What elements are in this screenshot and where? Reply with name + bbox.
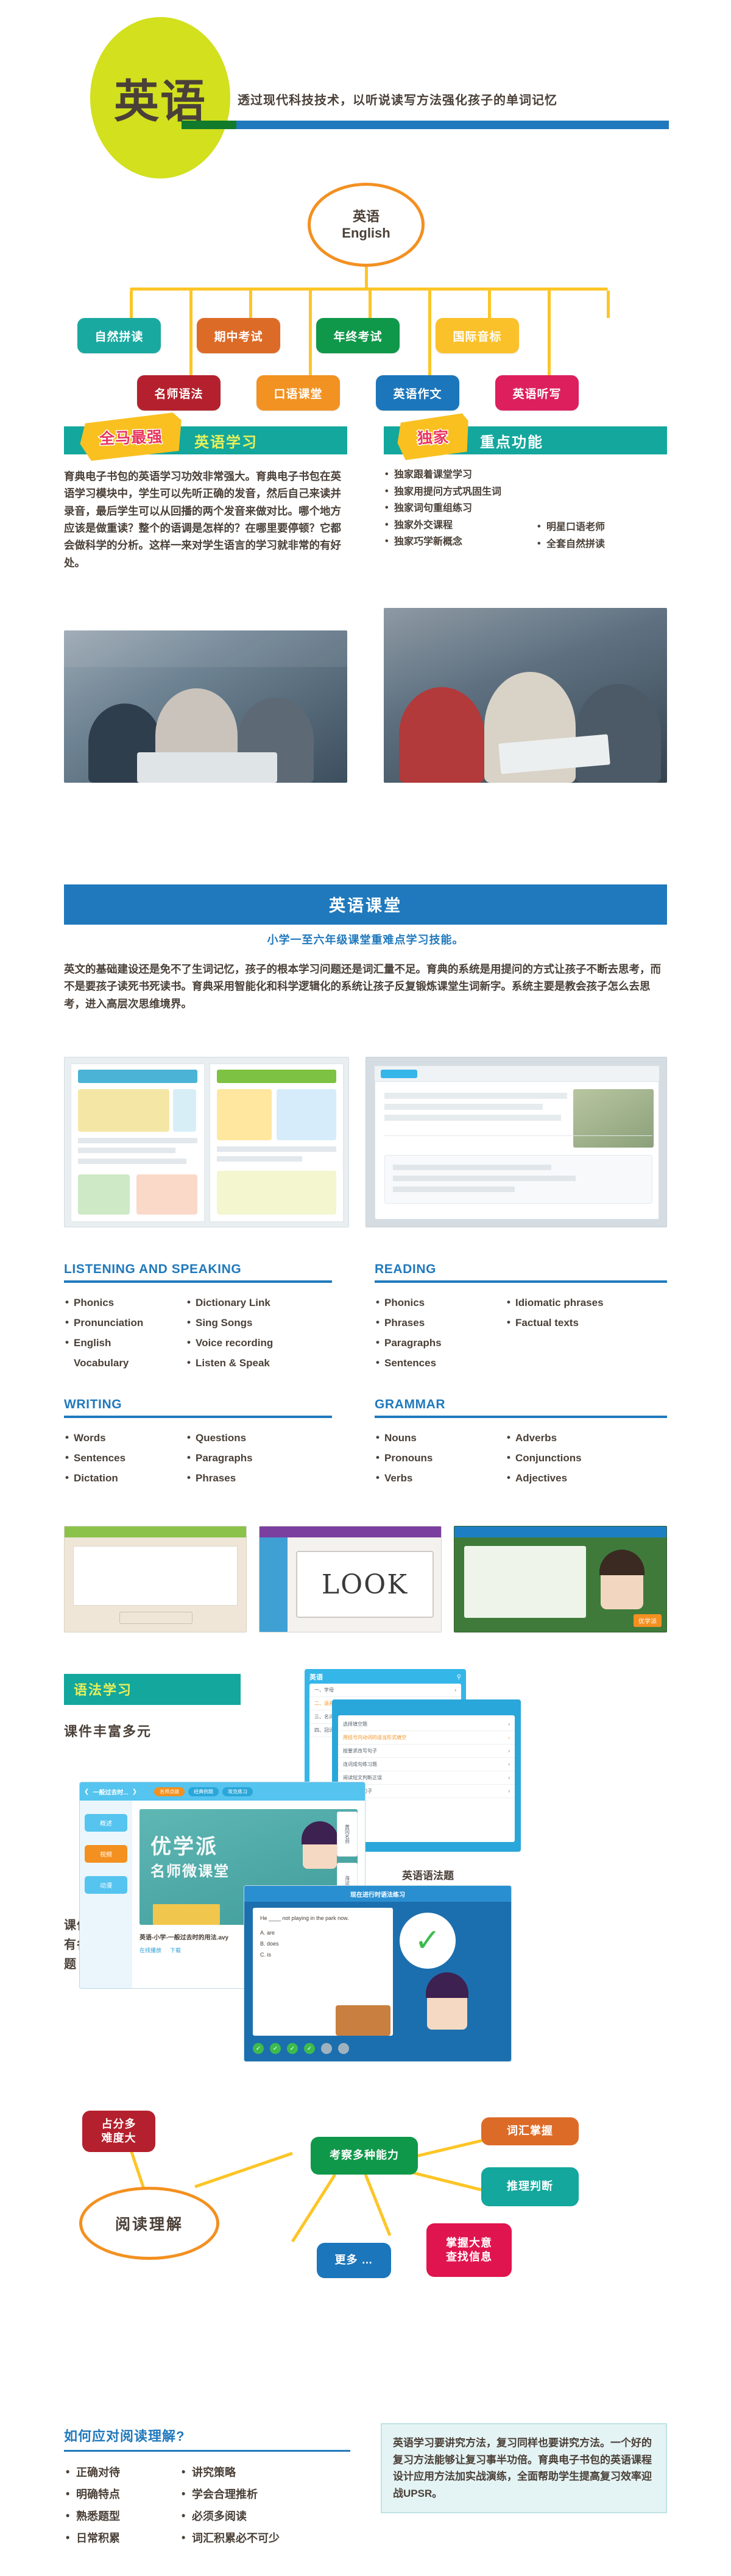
list-item-label: 用括号内动词的适当形式填空 [343, 1734, 406, 1741]
photo-students-reading [384, 608, 667, 783]
chevron-right-icon: › [508, 1775, 510, 1780]
player-side-tab-2[interactable]: 视频 [85, 1845, 127, 1863]
skill-list-col2: Questions Paragraphs Phrases [186, 1428, 320, 1488]
list-item: Phrases [186, 1468, 320, 1488]
list-item: 全套自然拼读 [536, 536, 658, 553]
list-item[interactable]: 按要求改写句子› [338, 1745, 515, 1758]
player-side-tab-3[interactable]: 动漫 [85, 1876, 127, 1894]
list-item: 独家用提问方式巩固生词 [384, 484, 536, 501]
skill-heading: READING [375, 1262, 667, 1277]
list-item-label: 连词成句练习题 [343, 1761, 377, 1768]
skill-list-col1: Phonics Pronunciation English Vocabulary [64, 1293, 186, 1374]
subject-tree-diagram: 英语 English 自然拼读 期中考试 年终考试 国际音标 名师语法 口语课堂… [0, 183, 731, 378]
list-item: Factual texts [506, 1313, 652, 1333]
photo-students-tablets [64, 630, 347, 783]
left-panel-flag: 全马最强 [79, 412, 183, 462]
list-item: 独家词句重组练习 [384, 500, 536, 517]
left-panel-title: 英语学习 [194, 430, 258, 451]
skill-list-col1: Words Sentences Dictation [64, 1428, 186, 1488]
menu-item[interactable]: 一、字母 › [309, 1684, 461, 1697]
menu-item-label: 一、字母 [314, 1687, 334, 1693]
list-item: Idiomatic phrases [506, 1293, 652, 1313]
list-item: Listen & Speak [186, 1353, 320, 1373]
player-tab-1[interactable]: 名师点拨 [154, 1787, 185, 1796]
list-item: 词汇积累必不可少 [180, 2527, 344, 2549]
left-panel-paragraph: 育典电子书包的英语学习功效非常强大。育典电子书包在英语学习模块中，学生可以先听正… [64, 468, 347, 571]
chevron-left-icon[interactable]: ❮ [84, 1788, 89, 1795]
classroom-title-bar: 英语课堂 [64, 884, 667, 925]
tree-drop-7 [428, 291, 431, 375]
final-list-col1: 正确对待 明确特点 熟悉题型 日常积累 [64, 2461, 180, 2549]
player-slide-title-2: 名师微课堂 [150, 1859, 230, 1880]
list-item: Dictation [64, 1468, 186, 1488]
download-action[interactable]: 下载 [170, 1946, 181, 1954]
filmstrip-item-teacher-video: 优学派 [454, 1526, 667, 1632]
list-item: 独家巧学新概念 [384, 534, 536, 551]
right-panel-flag-text: 独家 [417, 425, 449, 448]
chevron-right-icon: › [508, 1788, 510, 1794]
tree-drop-2 [249, 291, 252, 318]
list-item: Phonics [375, 1293, 506, 1313]
skill-block-grammar: GRAMMAR Nouns Pronouns Verbs Adverbs Con… [375, 1397, 667, 1488]
list-item-label: 选择填空题 [343, 1721, 367, 1727]
list-item: Adjectives [506, 1468, 652, 1488]
tree-root-en: English [342, 225, 390, 242]
list-item[interactable]: 用括号内动词的适当形式填空› [338, 1731, 515, 1745]
list-item: Paragraphs [375, 1333, 506, 1353]
filmstrip-badge: 优学派 [634, 1614, 662, 1627]
flow-node-difficulty[interactable]: 占分多 难度大 [82, 2111, 155, 2152]
list-item: Dictionary Link [186, 1293, 320, 1313]
tree-drop-9 [607, 291, 610, 318]
check-icon: ✓ [253, 2043, 264, 2054]
list-item: Sing Songs [186, 1313, 320, 1333]
page-header: 英语 透过现代科技技术，以听说读写方法强化孩子的单词记忆 [0, 0, 731, 183]
quiz-option-c[interactable]: C. is [260, 1949, 386, 1960]
player-slide-title-1: 优学派 [150, 1830, 218, 1860]
classroom-paragraph: 英文的基础建设还是免不了生词记忆，孩子的根本学习问题还是词汇量不足。育典的系统是… [64, 961, 667, 1012]
rule-green-segment [182, 121, 236, 129]
quiz-option-a[interactable]: A. are [260, 1927, 386, 1938]
search-icon[interactable]: ⚲ [457, 1674, 461, 1681]
skill-list-col2: Idiomatic phrases Factual texts [506, 1293, 652, 1374]
list-item: 明确特点 [64, 2483, 180, 2505]
reading-flow-chart: 占分多 难度大 词汇掌握 推理判断 掌握大意 查找信息 更多 … 考察多种能力 … [0, 2089, 731, 2321]
chevron-right-icon: › [508, 1721, 510, 1727]
list-item: Pronouns [375, 1448, 506, 1468]
chevron-right-icon[interactable]: ❯ [132, 1788, 137, 1795]
check-icon: ✓ [304, 2043, 315, 2054]
screenshot-listening-app [365, 1057, 667, 1227]
rule-blue-segment [236, 121, 669, 129]
list-item: 必须多阅读 [180, 2505, 344, 2527]
chevron-right-icon: › [454, 1687, 456, 1693]
list-item: Sentences [64, 1448, 186, 1468]
menu-item-label: 四、冠词 [314, 1727, 334, 1734]
tree-node-dictation[interactable]: 英语听写 [495, 375, 579, 411]
list-item: 日常积累 [64, 2527, 180, 2549]
list-item: English [64, 1333, 186, 1353]
tree-node-phonics[interactable]: 自然拼读 [77, 318, 161, 353]
skill-block-reading: READING Phonics Phrases Paragraphs Sente… [375, 1262, 667, 1374]
skill-list-col2: Dictionary Link Sing Songs Voice recordi… [186, 1293, 320, 1374]
list-item: Words [64, 1428, 186, 1448]
classroom-subtitle: 小学一至六年级课堂重难点学习技能。 [64, 931, 667, 947]
player-tab-3[interactable]: 攻克练习 [222, 1787, 253, 1796]
check-icon: ✓ [414, 1925, 441, 1957]
list-item: 独家跟着课堂学习 [384, 467, 536, 484]
skill-block-listening: LISTENING AND SPEAKING Phonics Pronuncia… [64, 1262, 332, 1374]
right-panel-features-col2: 明星口语老师 全套自然拼读 [536, 467, 658, 552]
player-badge-1[interactable]: 黄冈名师 [337, 1812, 358, 1857]
list-item: Questions [186, 1428, 320, 1448]
skill-heading: GRAMMAR [375, 1397, 667, 1412]
flow-node-inference[interactable]: 推理判断 [481, 2167, 579, 2206]
tree-node-grammar[interactable]: 名师语法 [137, 375, 221, 411]
flow-node-more[interactable]: 更多 … [317, 2243, 391, 2278]
grammar-quiz-app: 现在进行时语法练习 He ____ not playing in the par… [244, 1885, 512, 2062]
list-item[interactable]: 选择填空题› [338, 1718, 515, 1731]
tree-root-node: 英语 English [308, 183, 425, 267]
play-online-action[interactable]: 在线播放 [139, 1946, 161, 1954]
grammar-right-caption: 英语语法题 [402, 1867, 454, 1882]
tree-drop-1 [130, 291, 133, 318]
skill-list-col1: Nouns Pronouns Verbs [375, 1428, 506, 1488]
tree-drop-4 [488, 291, 491, 318]
flow-node-hub[interactable]: 考察多种能力 [311, 2137, 418, 2175]
grammar-lead-text: 课件丰富多元 [64, 1721, 152, 1740]
filmstrip-item-whiteboard [64, 1526, 247, 1632]
list-item: 熟悉题型 [64, 2505, 180, 2527]
tree-drop-6 [309, 291, 312, 375]
skill-block-writing: WRITING Words Sentences Dictation Questi… [64, 1397, 332, 1488]
flow-node-main-idea[interactable]: 掌握大意 查找信息 [426, 2223, 512, 2277]
player-side-tab-1[interactable]: 概述 [85, 1814, 127, 1832]
player-breadcrumb: 一般过去时... [93, 1787, 128, 1796]
final-list-col2: 讲究策略 学会合理推析 必须多阅读 词汇积累必不可少 [180, 2461, 344, 2549]
menu-item-label: 三、名词 [314, 1713, 334, 1720]
list-item: Vocabulary [64, 1353, 186, 1373]
list-item: Nouns [375, 1428, 506, 1448]
tree-node-final-exam[interactable]: 年终考试 [316, 318, 400, 353]
list-item: Phonics [64, 1293, 186, 1313]
right-feature-panel: 独家 重点功能 独家跟着课堂学习 独家用提问方式巩固生词 独家词句重组练习 独家… [384, 426, 667, 552]
tree-node-midterm[interactable]: 期中考试 [197, 318, 280, 353]
tree-node-ipa[interactable]: 国际音标 [436, 318, 519, 353]
header-rule [182, 121, 669, 129]
list-item: Sentences [375, 1353, 506, 1373]
list-item: 正确对待 [64, 2461, 180, 2483]
filmstrip-caption: LOOK [322, 1569, 408, 1600]
list-item-label: 按要求改写句子 [343, 1748, 377, 1754]
quiz-option-b[interactable]: B. does [260, 1938, 386, 1949]
list-item: Voice recording [186, 1333, 320, 1353]
final-rule [64, 2450, 350, 2452]
right-panel-flag: 独家 [396, 413, 470, 461]
quiz-title: 现在进行时语法练习 [350, 1890, 405, 1899]
tree-node-speaking[interactable]: 口语课堂 [256, 375, 340, 411]
chevron-right-icon: › [508, 1762, 510, 1767]
left-panel-banner: 全马最强 英语学习 [64, 426, 347, 454]
right-panel-title: 重点功能 [480, 430, 543, 451]
tree-drop-3 [369, 291, 372, 318]
list-item: 讲究策略 [180, 2461, 344, 2483]
tree-drop-5 [189, 291, 192, 375]
list-item-label: 阅读短文判断正误 [343, 1774, 382, 1781]
screenshot-workbook-spread [64, 1057, 349, 1227]
final-note-box: 英语学习要讲究方法，复习同样也要讲究方法。一个好的复习方法能够让复习事半功倍。育… [381, 2423, 667, 2513]
list-item: 独家外交课程 [384, 517, 536, 534]
quiz-question: He ____ not playing in the park now. [260, 1915, 386, 1921]
filmstrip-item-handwriting: LOOK [259, 1526, 442, 1632]
list-item: 学会合理推析 [180, 2483, 344, 2505]
flow-center-node: 阅读理解 [79, 2187, 219, 2260]
final-question-block: 如何应对阅读理解? 正确对待 明确特点 熟悉题型 日常积累 讲究策略 学会合理推… [64, 2426, 356, 2549]
chevron-right-icon: › [508, 1735, 510, 1740]
skill-list-col1: Phonics Phrases Paragraphs Sentences [375, 1293, 506, 1374]
tree-root-cn: 英语 [353, 208, 380, 225]
player-tab-2[interactable]: 经典例题 [188, 1787, 219, 1796]
subject-logo-badge: 英语 [90, 17, 230, 178]
right-panel-features-col1: 独家跟着课堂学习 独家用提问方式巩固生词 独家词句重组练习 独家外交课程 独家巧… [384, 467, 536, 552]
list-item: Conjunctions [506, 1448, 652, 1468]
list-item: Paragraphs [186, 1448, 320, 1468]
skill-heading: WRITING [64, 1397, 332, 1412]
check-icon: ✓ [287, 2043, 298, 2054]
left-panel-flag-text: 全马最强 [99, 425, 163, 449]
list-item[interactable]: 连词成句练习题› [338, 1758, 515, 1771]
list-item: 明星口语老师 [536, 519, 658, 536]
header-subtitle: 透过现代科技技术，以听说读写方法强化孩子的单词记忆 [238, 90, 557, 108]
infographic-page: 英语 透过现代科技技术，以听说读写方法强化孩子的单词记忆 英语 English … [0, 0, 731, 2576]
list-item: Adverbs [506, 1428, 652, 1448]
tree-drop-8 [548, 291, 551, 375]
grammar-banner: 语法学习 [64, 1674, 241, 1705]
list-item: Phrases [375, 1313, 506, 1333]
tree-node-composition[interactable]: 英语作文 [376, 375, 459, 411]
check-icon: ✓ [270, 2043, 281, 2054]
tree-stem [365, 267, 368, 289]
classroom-section: 英语课堂 小学一至六年级课堂重难点学习技能。 英文的基础建设还是免不了生词记忆，… [64, 884, 667, 1012]
final-heading: 如何应对阅读理解? [64, 2426, 356, 2445]
skill-list-col2: Adverbs Conjunctions Adjectives [506, 1428, 652, 1488]
list-item: Pronunciation [64, 1313, 186, 1333]
chevron-right-icon: › [508, 1748, 510, 1754]
left-feature-panel: 全马最强 英语学习 育典电子书包的英语学习功效非常强大。育典电子书包在英语学习模… [64, 426, 347, 571]
skill-heading: LISTENING AND SPEAKING [64, 1262, 332, 1277]
flow-node-vocabulary[interactable]: 词汇掌握 [481, 2117, 579, 2145]
grammar-menu-title: 英语 [309, 1672, 323, 1682]
list-item: Verbs [375, 1468, 506, 1488]
right-panel-banner: 独家 重点功能 [384, 426, 667, 454]
